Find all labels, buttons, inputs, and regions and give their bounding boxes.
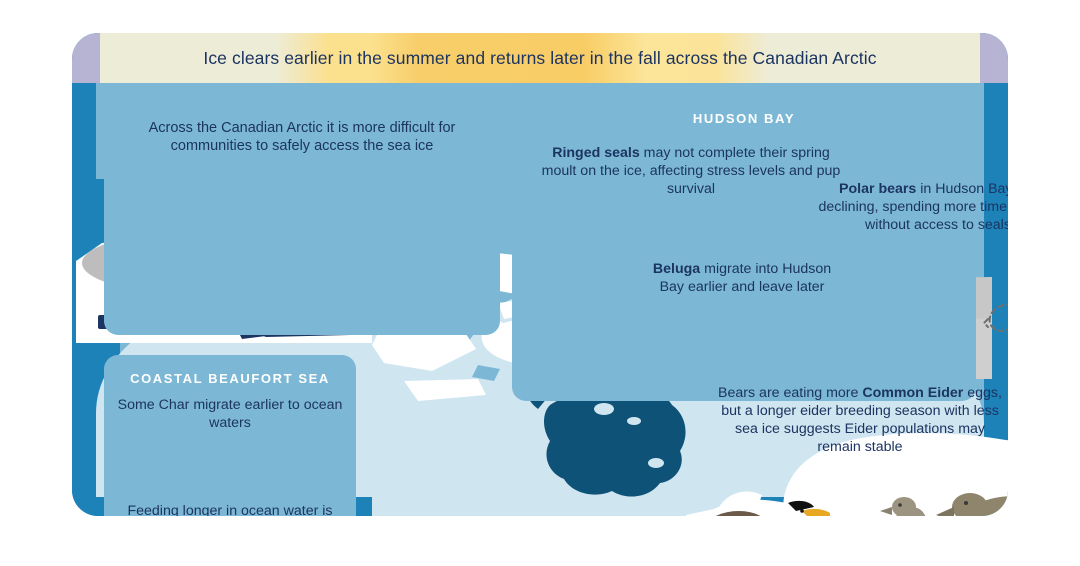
- before-common-eider: Bears are eating more: [718, 385, 862, 401]
- page-title: Ice clears earlier in the summer and ret…: [72, 33, 1008, 83]
- duckling-bill: [880, 507, 892, 515]
- lead-ringed-seals: Ringed seals: [552, 145, 640, 161]
- panel-hudson-bay: [512, 95, 976, 401]
- infographic-root: Ice clears earlier in the summer and ret…: [0, 0, 1080, 566]
- text-char-migration: Some Char migrate earlier to ocean water…: [112, 397, 348, 433]
- lead-common-eider: Common Eider: [862, 385, 963, 401]
- illustration-stage: Across the Canadian Arctic it is more di…: [72, 83, 1008, 516]
- text-common-eider: Bears are eating more Common Eider eggs,…: [712, 385, 1008, 457]
- eider-bill: [802, 509, 830, 516]
- section-title-beaufort-sea: COASTAL BEAUFORT SEA: [104, 371, 356, 386]
- lead-polar-bears: Polar bears: [839, 181, 916, 197]
- text-polar-bears: Polar bears in Hudson Bay are declining,…: [810, 181, 1008, 235]
- eider-duckling: [880, 491, 942, 516]
- text-ringed-seals: Ringed seals may not complete their spri…: [536, 145, 846, 199]
- text-beluga: Beluga migrate into Hudson Bay earlier a…: [650, 261, 834, 297]
- eider-female-nesting: [942, 481, 1008, 516]
- infographic-card: Ice clears earlier in the summer and ret…: [72, 33, 1008, 516]
- lead-beluga: Beluga: [653, 261, 700, 277]
- polar-bear-ghost-outline: [982, 279, 1008, 351]
- common-eider-male-flying: [684, 487, 834, 516]
- section-title-hudson-bay: HUDSON BAY: [512, 111, 976, 126]
- text-communities: Across the Canadian Arctic it is more di…: [112, 119, 492, 156]
- text-char-feeding: Feeding longer in ocean water is benefic…: [112, 503, 348, 516]
